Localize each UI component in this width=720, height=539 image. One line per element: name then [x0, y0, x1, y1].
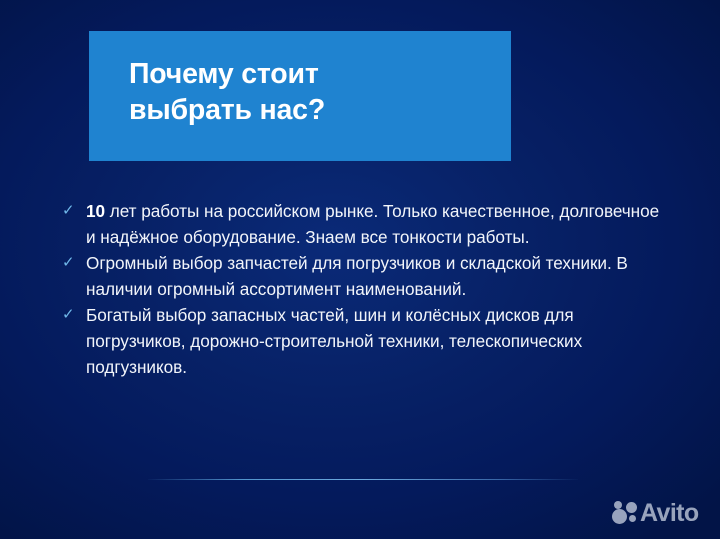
- list-item-text: Огромный выбор запчастей для погрузчиков…: [86, 251, 672, 302]
- avito-logo-icon: [612, 500, 639, 526]
- check-icon: ✓: [62, 303, 86, 323]
- page-title: Почему стоит выбрать нас?: [129, 56, 499, 128]
- avito-watermark: Avito: [612, 500, 699, 526]
- title-banner: Почему стоит выбрать нас?: [89, 31, 511, 161]
- list-item-lead: 10: [86, 201, 105, 221]
- list-item-body: Богатый выбор запасных частей, шин и кол…: [86, 305, 582, 376]
- list-item: ✓ Огромный выбор запчастей для погрузчик…: [62, 251, 672, 302]
- list-item-text: 10 лет работы на российском рынке. Тольк…: [86, 199, 672, 250]
- list-item-text: Богатый выбор запасных частей, шин и кол…: [86, 303, 672, 380]
- avito-wordmark: Avito: [640, 501, 699, 526]
- list-item: ✓ 10 лет работы на российском рынке. Тол…: [62, 199, 672, 250]
- list-item: ✓ Богатый выбор запасных частей, шин и к…: [62, 303, 672, 380]
- slide-canvas: Почему стоит выбрать нас? ✓ 10 лет работ…: [0, 0, 720, 539]
- benefits-list: ✓ 10 лет работы на российском рынке. Тол…: [62, 199, 672, 381]
- list-item-body: Огромный выбор запчастей для погрузчиков…: [86, 253, 628, 299]
- horizontal-divider: [148, 479, 578, 480]
- list-item-body: лет работы на российском рынке. Только к…: [86, 201, 659, 247]
- check-icon: ✓: [62, 199, 86, 219]
- check-icon: ✓: [62, 251, 86, 271]
